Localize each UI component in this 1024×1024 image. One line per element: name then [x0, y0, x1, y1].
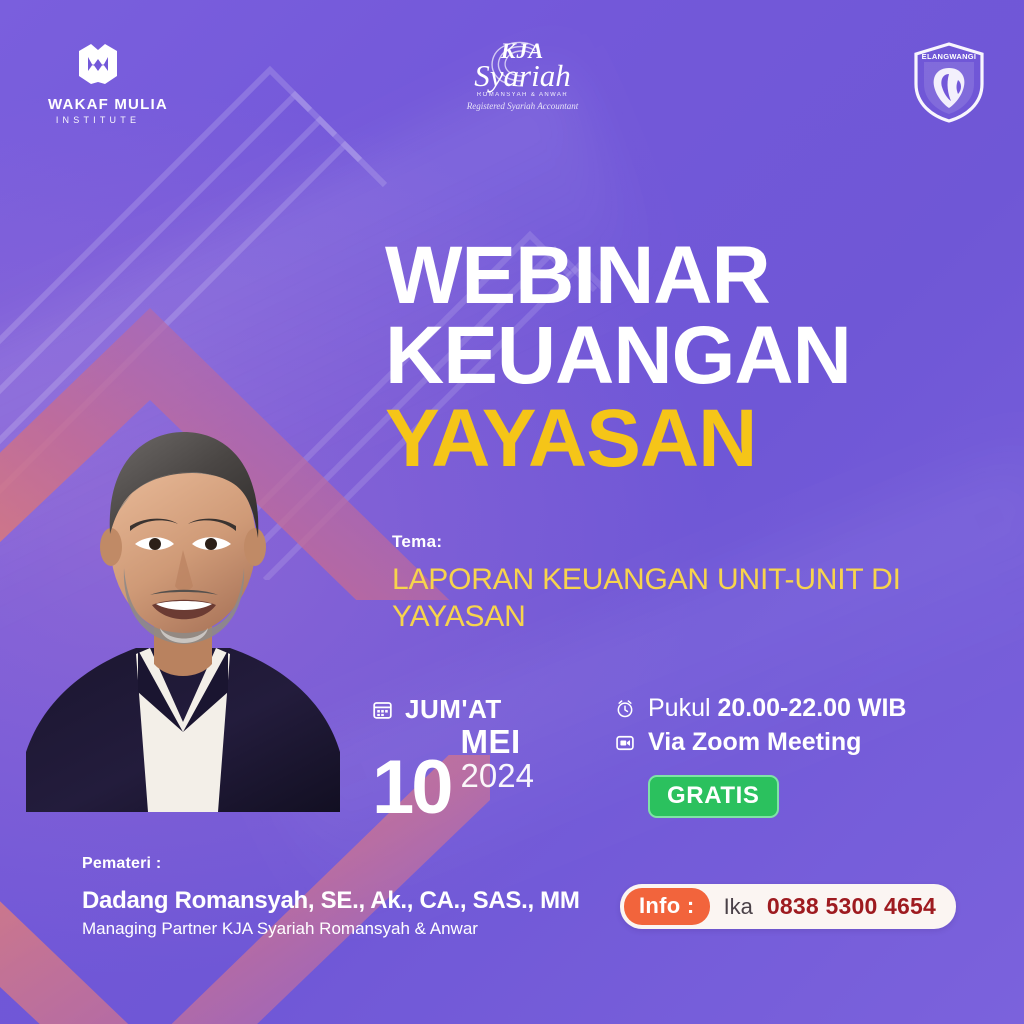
speaker-name: Dadang Romansyah, SE., Ak., CA., SAS., M… [82, 887, 602, 915]
tema-label: Tema: [392, 532, 982, 552]
time-value: 20.00-22.00 WIB [718, 694, 907, 722]
headline-line-2: KEUANGAN [385, 316, 985, 396]
wakaf-mulia-logo: WAKAF MULIA INSTITUTE [48, 42, 148, 125]
kja-partners: ROMANSYAH & ANWAR [455, 92, 590, 98]
event-details: Pukul 20.00-22.00 WIB Via Zoom Meeting G… [615, 694, 975, 818]
m-monogram-icon [75, 42, 121, 86]
headline-line-1: WEBINAR [385, 236, 985, 316]
event-date: 10 [372, 755, 451, 822]
alarm-clock-icon [615, 699, 635, 719]
event-platform: Via Zoom Meeting [648, 728, 861, 757]
wakaf-logo-line1: WAKAF MULIA [48, 96, 148, 113]
tema-text: LAPORAN KEUANGAN UNIT-UNIT DI YAYASAN [392, 562, 982, 635]
speaker-role: Managing Partner KJA Syariah Romansyah &… [82, 919, 602, 939]
svg-text:ELANGWANGI: ELANGWANGI [922, 52, 977, 61]
headline-line-3: YAYASAN [385, 399, 985, 479]
video-camera-icon [615, 733, 635, 753]
speaker-portrait [18, 392, 348, 812]
calendar-icon [372, 699, 393, 720]
info-contact-name: Ika [724, 894, 753, 920]
tema-section: Tema: LAPORAN KEUANGAN UNIT-UNIT DI YAYA… [392, 532, 982, 635]
poster-headline: WEBINAR KEUANGAN YAYASAN [385, 236, 985, 479]
eagle-shield-icon: ELANGWANGI [910, 40, 988, 124]
swirl-decor-icon [481, 34, 565, 90]
info-tag: Info : [624, 888, 710, 925]
event-time: Pukul 20.00-22.00 WIB [648, 694, 907, 723]
wakaf-logo-line2: INSTITUTE [48, 115, 148, 125]
speaker-credit: Pemateri : Dadang Romansyah, SE., Ak., C… [82, 855, 602, 939]
webinar-poster: WAKAF MULIA INSTITUTE KJA Syariah ROMANS… [0, 0, 1024, 1024]
speaker-label: Pemateri : [82, 855, 602, 873]
date-block: JUM'AT 10 MEI 2024 [372, 694, 622, 822]
info-phone-number[interactable]: 0838 5300 4654 [767, 893, 936, 920]
info-contact-pill[interactable]: Info : Ika 0838 5300 4654 [620, 884, 956, 929]
event-month: MEI [461, 727, 534, 757]
event-year: 2024 [461, 759, 534, 792]
event-day: JUM'AT [405, 694, 502, 725]
kja-syariah-logo: KJA Syariah ROMANSYAH & ANWAR Registered… [455, 40, 590, 111]
kja-tagline: Registered Syariah Accountant [455, 101, 590, 111]
price-badge: GRATIS [648, 775, 779, 818]
time-prefix: Pukul [648, 694, 711, 722]
